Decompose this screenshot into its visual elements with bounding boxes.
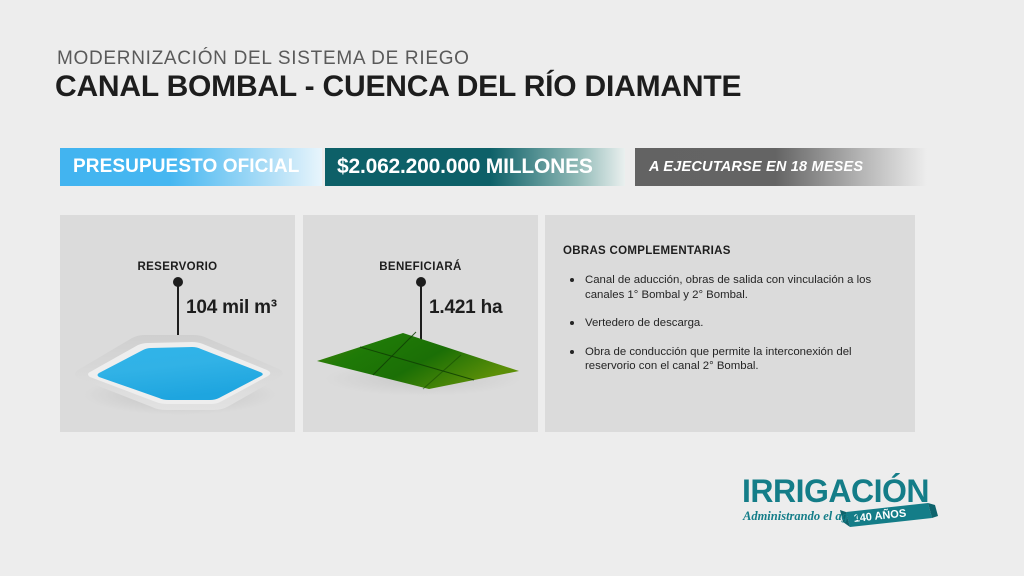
banner-segment-budget: PRESUPUESTO OFICIAL xyxy=(60,148,322,186)
logo-wordmark: IRRIGACIÓN xyxy=(742,473,929,509)
benefit-label: BENEFICIARÁ xyxy=(303,261,538,273)
irrigacion-logo: IRRIGACIÓN 140 AÑOS Administrando el agu… xyxy=(742,472,942,532)
reservoir-value: 104 mil m³ xyxy=(186,297,277,319)
list-item: Canal de aducción, obras de salida con v… xyxy=(567,273,899,302)
banner-segment-term: A EJECUTARSE EN 18 MESES xyxy=(635,148,927,186)
works-list: Canal de aducción, obras de salida con v… xyxy=(567,273,899,388)
list-item: Obra de conducción que permite la interc… xyxy=(567,345,899,374)
card-reservoir: RESERVORIO 104 mil m³ xyxy=(60,215,295,432)
card-beneficiaria: BENEFICIARÁ 1.421 ha xyxy=(303,215,538,432)
page-title: CANAL BOMBAL - CUENCA DEL RÍO DIAMANTE xyxy=(55,70,741,104)
benefit-value: 1.421 ha xyxy=(429,297,502,319)
budget-banner: PRESUPUESTO OFICIAL $2.062.200.000 MILLO… xyxy=(0,148,1024,186)
reservoir-label: RESERVORIO xyxy=(60,261,295,273)
reservoir-basin-graphic xyxy=(68,323,288,419)
logo-tagline: Administrando el agua xyxy=(742,509,861,523)
banner-segment-amount: $2.062.200.000 MILLONES xyxy=(325,148,625,186)
card-obras-complementarias: OBRAS COMPLEMENTARIAS Canal de aducción,… xyxy=(545,215,915,432)
kicker-text: MODERNIZACIÓN DEL SISTEMA DE RIEGO xyxy=(57,48,470,70)
list-item: Vertedero de descarga. xyxy=(567,316,899,331)
execution-term: A EJECUTARSE EN 18 MESES xyxy=(649,159,863,175)
slide: MODERNIZACIÓN DEL SISTEMA DE RIEGO CANAL… xyxy=(0,0,1024,576)
budget-amount: $2.062.200.000 MILLONES xyxy=(337,155,593,179)
benefit-field-graphic xyxy=(311,327,531,407)
works-title: OBRAS COMPLEMENTARIAS xyxy=(563,245,731,257)
budget-label: PRESUPUESTO OFICIAL xyxy=(73,156,299,178)
